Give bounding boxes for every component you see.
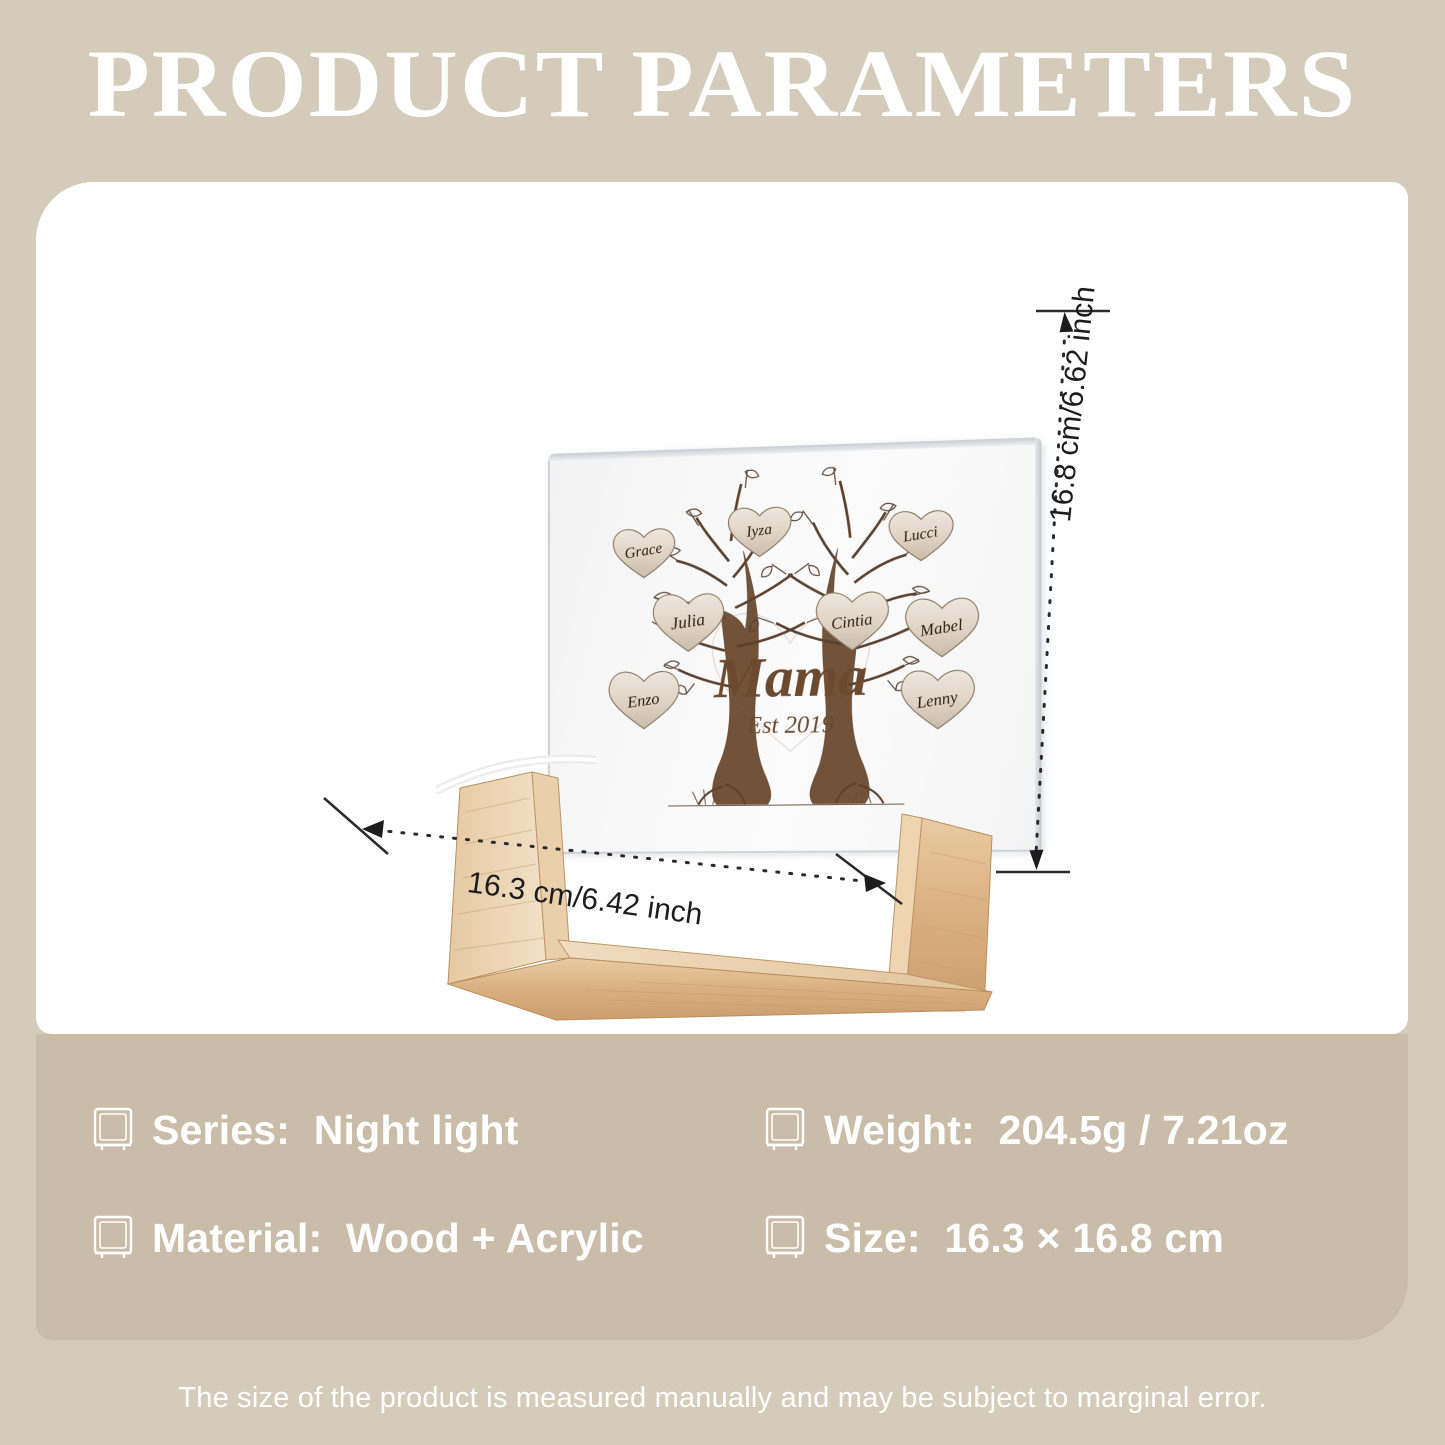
page-root: PRODUCT PARAMETERS [0,0,1445,1445]
spec-text-material: Material: Wood + Acrylic [152,1215,644,1262]
spec-item-size: Size: 16.3 × 16.8 cm [764,1215,1362,1262]
footer-disclaimer: The size of the product is measured manu… [0,1382,1445,1415]
spec-value-series: Night light [314,1107,519,1153]
plaque-icon [764,1215,806,1261]
dimension-annotations [36,182,1408,1034]
spec-value-size: 16.3 × 16.8 cm [944,1215,1224,1261]
height-arrow-down [1029,850,1044,871]
page-title: PRODUCT PARAMETERS [0,36,1445,132]
spec-label-series: Series: [152,1107,290,1153]
spec-label-weight: Weight: [824,1107,975,1153]
spec-text-series: Series: Night light [152,1107,519,1154]
width-dimension-line [376,830,872,882]
product-image-card: Grace Iyza Lucci Julia [36,182,1408,1034]
spec-value-material: Wood + Acrylic [346,1215,644,1261]
spec-label-size: Size: [824,1215,921,1261]
plaque-icon [764,1107,806,1153]
plaque-icon [92,1107,134,1153]
spec-item-material: Material: Wood + Acrylic [92,1215,764,1262]
spec-item-weight: Weight: 204.5g / 7.21oz [764,1107,1362,1154]
spec-label-material: Material: [152,1215,322,1261]
spec-grid: Series: Night light Weight: 204.5g / 7.2… [92,1076,1362,1292]
plaque-icon [92,1215,134,1261]
spec-text-weight: Weight: 204.5g / 7.21oz [824,1107,1289,1154]
spec-value-weight: 204.5g / 7.21oz [999,1107,1289,1153]
spec-text-size: Size: 16.3 × 16.8 cm [824,1215,1224,1262]
spec-item-series: Series: Night light [92,1107,764,1154]
